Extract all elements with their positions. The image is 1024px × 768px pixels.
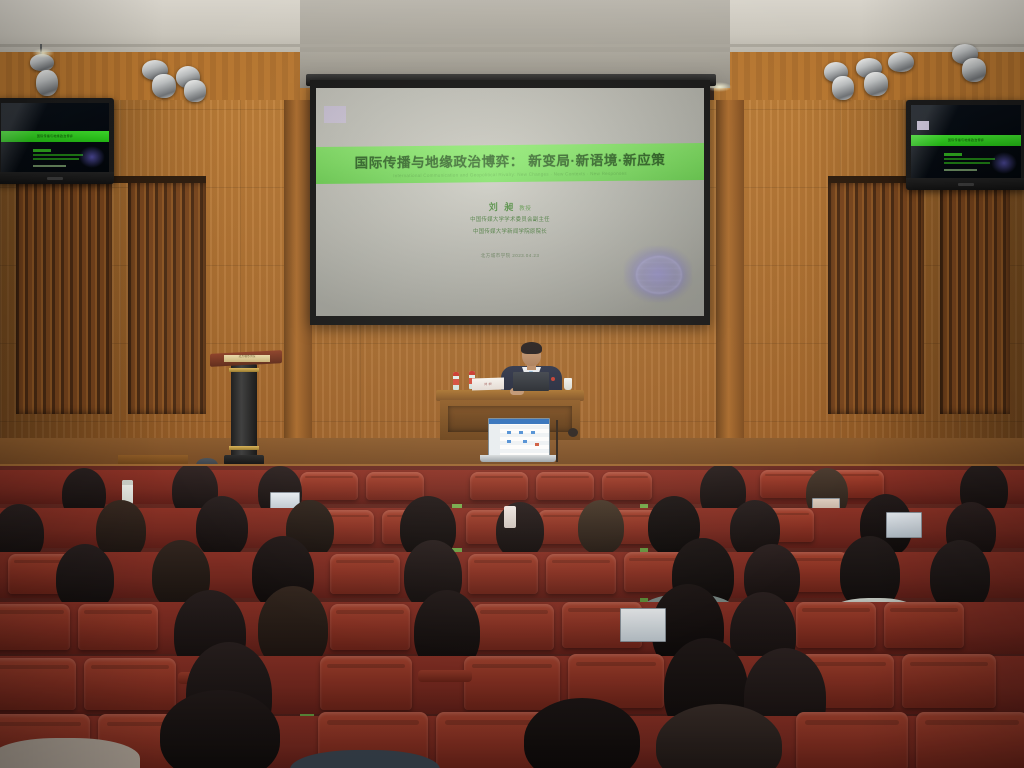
audience-phone[interactable] (504, 506, 516, 528)
audience-head (578, 500, 624, 554)
screen-glare (911, 105, 1021, 178)
cable-coil (568, 428, 578, 437)
auditorium-seat[interactable] (366, 472, 424, 500)
laptop-cell (535, 443, 539, 446)
auditorium-seat[interactable] (300, 472, 358, 500)
ceiling-seam (0, 44, 1024, 47)
desk-nameplate: 刘 昶 (472, 377, 504, 390)
screen-vignette (316, 88, 704, 316)
spotlight-glow (32, 48, 54, 58)
acoustic-slat-panel-right-1 (828, 182, 924, 414)
paper-cup (564, 378, 572, 390)
seat-armrest (418, 670, 472, 682)
auditorium-seat[interactable] (464, 656, 560, 710)
auditorium-seat[interactable] (902, 654, 996, 708)
auditorium-seat[interactable] (78, 604, 158, 650)
auditorium-seat[interactable] (916, 712, 1024, 768)
desk-nameplate-text: 刘 昶 (472, 377, 504, 390)
presenter-laptop-base (480, 455, 556, 462)
ceiling-spotlight-icon (184, 80, 206, 102)
bottle-cap (469, 371, 475, 375)
right-monitor-screen: 国际传播与地缘政治博弈 (911, 105, 1021, 178)
bottle-cap (453, 372, 459, 376)
audience-laptop[interactable] (620, 608, 666, 642)
auditorium-seat[interactable] (602, 472, 652, 500)
audience-head (196, 496, 248, 558)
auditorium-seat[interactable] (884, 602, 964, 648)
lectern-nameplate: 北方城市学院 (224, 355, 270, 362)
desk-laptop (513, 372, 549, 391)
laptop-sidebar (489, 424, 500, 457)
auditorium-seat[interactable] (0, 604, 70, 650)
auditorium-seat[interactable] (468, 554, 538, 594)
auditorium-seat[interactable] (474, 604, 554, 650)
auditorium-seat[interactable] (330, 554, 400, 594)
laptop-cell (507, 431, 511, 434)
auditorium-seat[interactable] (84, 658, 176, 710)
ceiling-spotlight-icon (888, 52, 914, 72)
auditorium-seat[interactable] (546, 554, 616, 594)
auditorium-seat[interactable] (536, 472, 594, 500)
speaker-lapel-badge (551, 377, 555, 381)
left-monitor-screen: 国际传播与地缘政治博弈 (1, 103, 109, 172)
projection-screen: 国际传播与地缘政治博弈： 新变局·新语境·新应策 International C… (316, 88, 704, 316)
auditorium-seat[interactable] (470, 472, 528, 500)
monitor-logo (958, 183, 974, 186)
ceiling-spotlight-icon (962, 58, 986, 82)
lecture-hall-photo: 国际传播与地缘政治博弈： 新变局·新语境·新应策 International C… (0, 0, 1024, 768)
laptop-cell (531, 431, 535, 434)
laptop-cell (523, 440, 527, 443)
right-side-monitor: 国际传播与地缘政治博弈 (906, 100, 1024, 190)
auditorium-seat[interactable] (330, 604, 410, 650)
acoustic-slat-panel-left-1 (16, 182, 112, 414)
ceiling-spotlight-icon (864, 72, 888, 96)
tumbler-lid (122, 480, 133, 485)
presenter-laptop-screen (488, 418, 550, 458)
ceiling-spotlight-icon (152, 74, 176, 98)
laptop-cell (519, 431, 523, 434)
audience-area (0, 466, 1024, 768)
acoustic-slat-panel-left-2 (128, 182, 206, 414)
ceiling-spotlight-icon (832, 76, 854, 100)
laptop-cell (507, 440, 511, 443)
acoustic-slat-panel-right-2 (940, 182, 1010, 414)
water-bottle (453, 372, 459, 390)
auditorium-seat[interactable] (0, 658, 76, 710)
ceiling-spotlight-icon (36, 70, 58, 96)
lectern-plate-text: 北方城市学院 (224, 355, 270, 358)
audience-shoulders (0, 738, 140, 768)
audience-laptop[interactable] (886, 512, 922, 538)
auditorium-seat[interactable] (320, 656, 412, 710)
auditorium-seat[interactable] (796, 712, 908, 768)
left-side-monitor: 国际传播与地缘政治博弈 (0, 98, 114, 184)
lectern-ring (229, 368, 259, 372)
cable (556, 420, 558, 462)
lectern-ring (229, 446, 259, 450)
monitor-logo (47, 177, 63, 180)
speaker-hair (521, 342, 542, 354)
bottle-label (453, 379, 459, 385)
auditorium-seat[interactable] (796, 602, 876, 648)
screen-glare (1, 103, 109, 172)
